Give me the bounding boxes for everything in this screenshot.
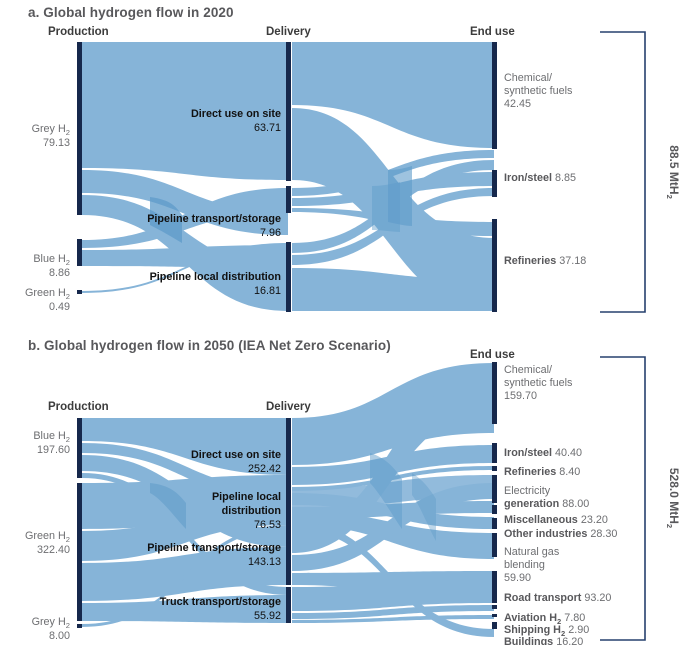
panel-a-2020: a. Global hydrogen flow in 2020 Producti… bbox=[0, 0, 699, 333]
node-bar-road-transport-b[interactable] bbox=[492, 571, 497, 603]
node-label-ngblending-b: Natural gas bbox=[504, 546, 560, 558]
node-label-green-h2-a: Green H2 bbox=[25, 287, 70, 301]
node-label-chemical2-a: synthetic fuels bbox=[504, 85, 573, 97]
sankey-a-svg: Production Delivery End use bbox=[0, 0, 699, 333]
column-header-enduse-b: End use bbox=[470, 349, 515, 361]
flow-value-pipeline-transport-a: 7.96 bbox=[260, 227, 281, 239]
flow-value-pipeline-local-b: 76.53 bbox=[254, 519, 281, 531]
node-bar-green-h2-b[interactable] bbox=[77, 483, 82, 621]
node-label-grey-h2-a: Grey H2 bbox=[32, 123, 70, 137]
node-bar-chemical-b[interactable] bbox=[492, 362, 497, 424]
node-label-green-h2-b: Green H2 bbox=[25, 530, 70, 544]
flow-label-pipeline-transport-b: Pipeline transport/storage bbox=[147, 542, 281, 554]
flow-value-truck-transport-b: 55.92 bbox=[254, 610, 281, 622]
node-value-chemical-a: 42.45 bbox=[504, 98, 531, 110]
node-value-blue-h2-a: 8.86 bbox=[49, 267, 70, 279]
node-bar-pipeline-local-a[interactable] bbox=[286, 242, 291, 312]
node-bar-truck-transport-b[interactable] bbox=[286, 587, 291, 623]
node-bar-chemical-a[interactable] bbox=[492, 42, 497, 149]
sankey-b-svg: Production Delivery End use bbox=[0, 333, 699, 645]
flow-overlap-del2-a bbox=[372, 182, 400, 232]
node-bar-green-h2-a[interactable] bbox=[77, 290, 82, 294]
node-label-chemical-b: Chemical/ bbox=[504, 364, 552, 376]
node-value-ngblending-b: 59.90 bbox=[504, 572, 531, 584]
node-bar-other-industries-b[interactable] bbox=[492, 518, 497, 529]
node-label-road-transport-b: Road transport 93.20 bbox=[504, 592, 611, 604]
node-bar-blue-h2-b[interactable] bbox=[77, 418, 82, 478]
node-bar-buildings-b[interactable] bbox=[492, 622, 497, 629]
total-bracket-a bbox=[600, 32, 645, 312]
node-label-iron-steel-b: Iron/steel 40.40 bbox=[504, 447, 582, 459]
node-bar-miscellaneous-b[interactable] bbox=[492, 505, 497, 514]
flow-value-pipeline-local-a: 16.81 bbox=[254, 285, 281, 297]
node-bar-pipeline-transport-b[interactable] bbox=[286, 529, 291, 585]
node-bar-pipeline-local-b[interactable] bbox=[286, 489, 291, 529]
column-header-delivery-b: Delivery bbox=[266, 401, 311, 413]
column-header-production-b: Production bbox=[48, 401, 109, 413]
flow-label-pipeline-transport-a: Pipeline transport/storage bbox=[147, 213, 281, 225]
flow-label-truck-transport-b: Truck transport/storage bbox=[160, 596, 281, 608]
node-label-iron-steel-a: Iron/steel 8.85 bbox=[504, 172, 576, 184]
node-label-refineries-a: Refineries 37.18 bbox=[504, 255, 586, 267]
node-bar-electricity-b[interactable] bbox=[492, 475, 497, 503]
flow-value-pipeline-transport-b: 143.13 bbox=[248, 556, 281, 568]
node-value-grey-h2-a: 79.13 bbox=[43, 137, 70, 149]
column-header-delivery-a: Delivery bbox=[266, 26, 311, 38]
node-label-chemical2-b: synthetic fuels bbox=[504, 377, 573, 389]
node-label-buildings-b: Buildings 16.20 bbox=[504, 636, 583, 645]
node-bar-shipping-b[interactable] bbox=[492, 614, 497, 617]
node-bar-pipeline-transport-a[interactable] bbox=[286, 186, 291, 213]
flow-value-direct-use-a: 63.71 bbox=[254, 122, 281, 134]
total-label-a: 88.5 MtH2 bbox=[665, 145, 681, 199]
node-label-other-industries-b: Other industries 28.30 bbox=[504, 528, 617, 540]
node-bar-blue-h2-a[interactable] bbox=[77, 239, 82, 266]
node-bar-refineries-a[interactable] bbox=[492, 219, 497, 312]
column-header-production-a: Production bbox=[48, 26, 109, 38]
flow-label-direct-use-a: Direct use on site bbox=[191, 108, 281, 120]
node-bar-iron-steel-a[interactable] bbox=[492, 170, 497, 197]
node-bar-grey-h2-a[interactable] bbox=[77, 42, 82, 215]
node-bar-direct-use-a[interactable] bbox=[286, 42, 291, 181]
flow-label-pipeline-local-a: Pipeline local distribution bbox=[150, 271, 281, 283]
node-bar-ngblending-b[interactable] bbox=[492, 533, 497, 557]
node-label-grey-h2-b: Grey H2 bbox=[32, 616, 70, 630]
flow-label-direct-use-b: Direct use on site bbox=[191, 449, 281, 461]
node-bar-aviation-b[interactable] bbox=[492, 605, 497, 609]
flow-label-pipeline-local2-b: distribution bbox=[222, 505, 281, 517]
total-label-b: 528.0 MtH2 bbox=[665, 468, 681, 528]
flow-value-direct-use-b: 252.42 bbox=[248, 463, 281, 475]
node-label-chemical-a: Chemical/ bbox=[504, 72, 552, 84]
node-value-blue-h2-b: 197.60 bbox=[37, 444, 70, 456]
flow-label-pipeline-local-b: Pipeline local bbox=[212, 491, 281, 503]
panel-b-2050: b. Global hydrogen flow in 2050 (IEA Net… bbox=[0, 333, 699, 645]
node-label-blue-h2-a: Blue H2 bbox=[33, 253, 70, 267]
node-label-electricity2-b: generation 88.00 bbox=[504, 498, 589, 510]
node-label-electricity-b: Electricity bbox=[504, 485, 551, 497]
node-value-chemical-b: 159.70 bbox=[504, 390, 537, 402]
node-value-green-h2-a: 0.49 bbox=[49, 301, 70, 313]
node-bar-iron-steel-b[interactable] bbox=[492, 443, 497, 463]
node-label-ngblending2-b: blending bbox=[504, 559, 545, 571]
flow-blue-to-pipeline-local-a bbox=[82, 245, 288, 268]
node-label-refineries-b: Refineries 8.40 bbox=[504, 466, 580, 478]
node-label-blue-h2-b: Blue H2 bbox=[33, 430, 70, 444]
node-label-miscellaneous-b: Miscellaneous 23.20 bbox=[504, 514, 608, 526]
node-bar-grey-h2-b[interactable] bbox=[77, 624, 82, 628]
column-header-enduse-a: End use bbox=[470, 26, 515, 38]
node-value-grey-h2-b: 8.00 bbox=[49, 630, 70, 642]
node-bar-refineries-b[interactable] bbox=[492, 466, 497, 471]
node-value-green-h2-b: 322.40 bbox=[37, 544, 70, 556]
